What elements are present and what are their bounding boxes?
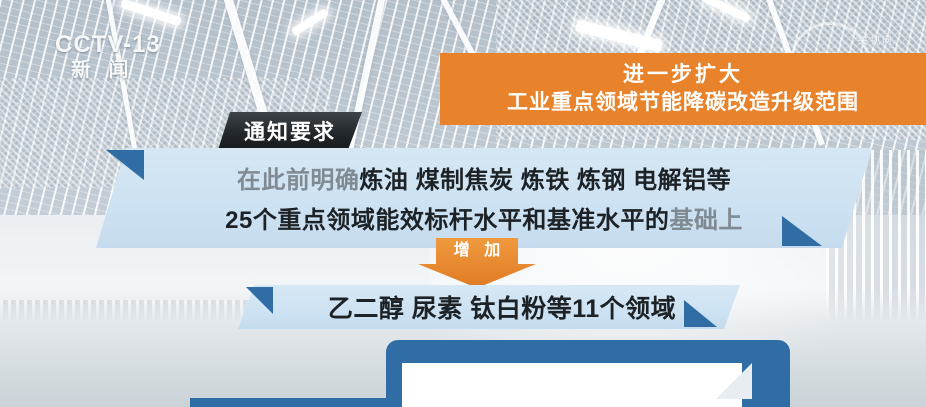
headline-line-2: 工业重点领域节能降碳改造升级范围: [507, 88, 859, 117]
result-bar: 乙二醇 尿素 钛白粉等11个领域: [238, 285, 740, 329]
panel-line1-prefix: 在此前明确: [237, 160, 360, 195]
broadcast-screen: CCTV-13 新 闻 央视网 CCTV.com 进一步扩大 工业重点领域节能降…: [0, 0, 926, 407]
channel-logo-subtext: 新 闻: [71, 58, 161, 82]
result-bar-accent-left: [246, 287, 273, 314]
headline-line-1: 进一步扩大: [623, 61, 743, 88]
result-bar-label: 乙二醇 尿素 钛白粉等11个领域: [302, 289, 676, 325]
channel-logo-text: CCTV-13: [55, 32, 161, 58]
lower-third-strip: [190, 398, 390, 407]
increase-arrow-label: 增 加: [449, 238, 505, 263]
panel-text-line-2: 25个重点领域能效标杆水平和基准水平的 基础上: [96, 200, 872, 234]
lower-third-frame-inner: [402, 363, 742, 407]
panel-line2-suffix: 基础上: [669, 200, 743, 235]
headline-banner: 进一步扩大 工业重点领域节能降碳改造升级范围: [440, 53, 926, 125]
panel-line1-emphasis: 炼油 煤制焦炭 炼铁 炼钢 电解铝等: [359, 160, 731, 195]
channel-logo: CCTV-13 新 闻: [55, 32, 161, 82]
panel-line2-emphasis: 25个重点领域能效标杆水平和基准水平的: [225, 200, 669, 235]
section-tag-label: 通知要求: [244, 116, 336, 146]
panel-text-line-1: 在此前明确 炼油 煤制焦炭 炼铁 炼钢 电解铝等: [96, 160, 872, 194]
result-bar-accent-right: [684, 300, 717, 327]
lower-third-frame-notch: [716, 363, 752, 399]
section-tag: 通知要求: [218, 112, 362, 150]
